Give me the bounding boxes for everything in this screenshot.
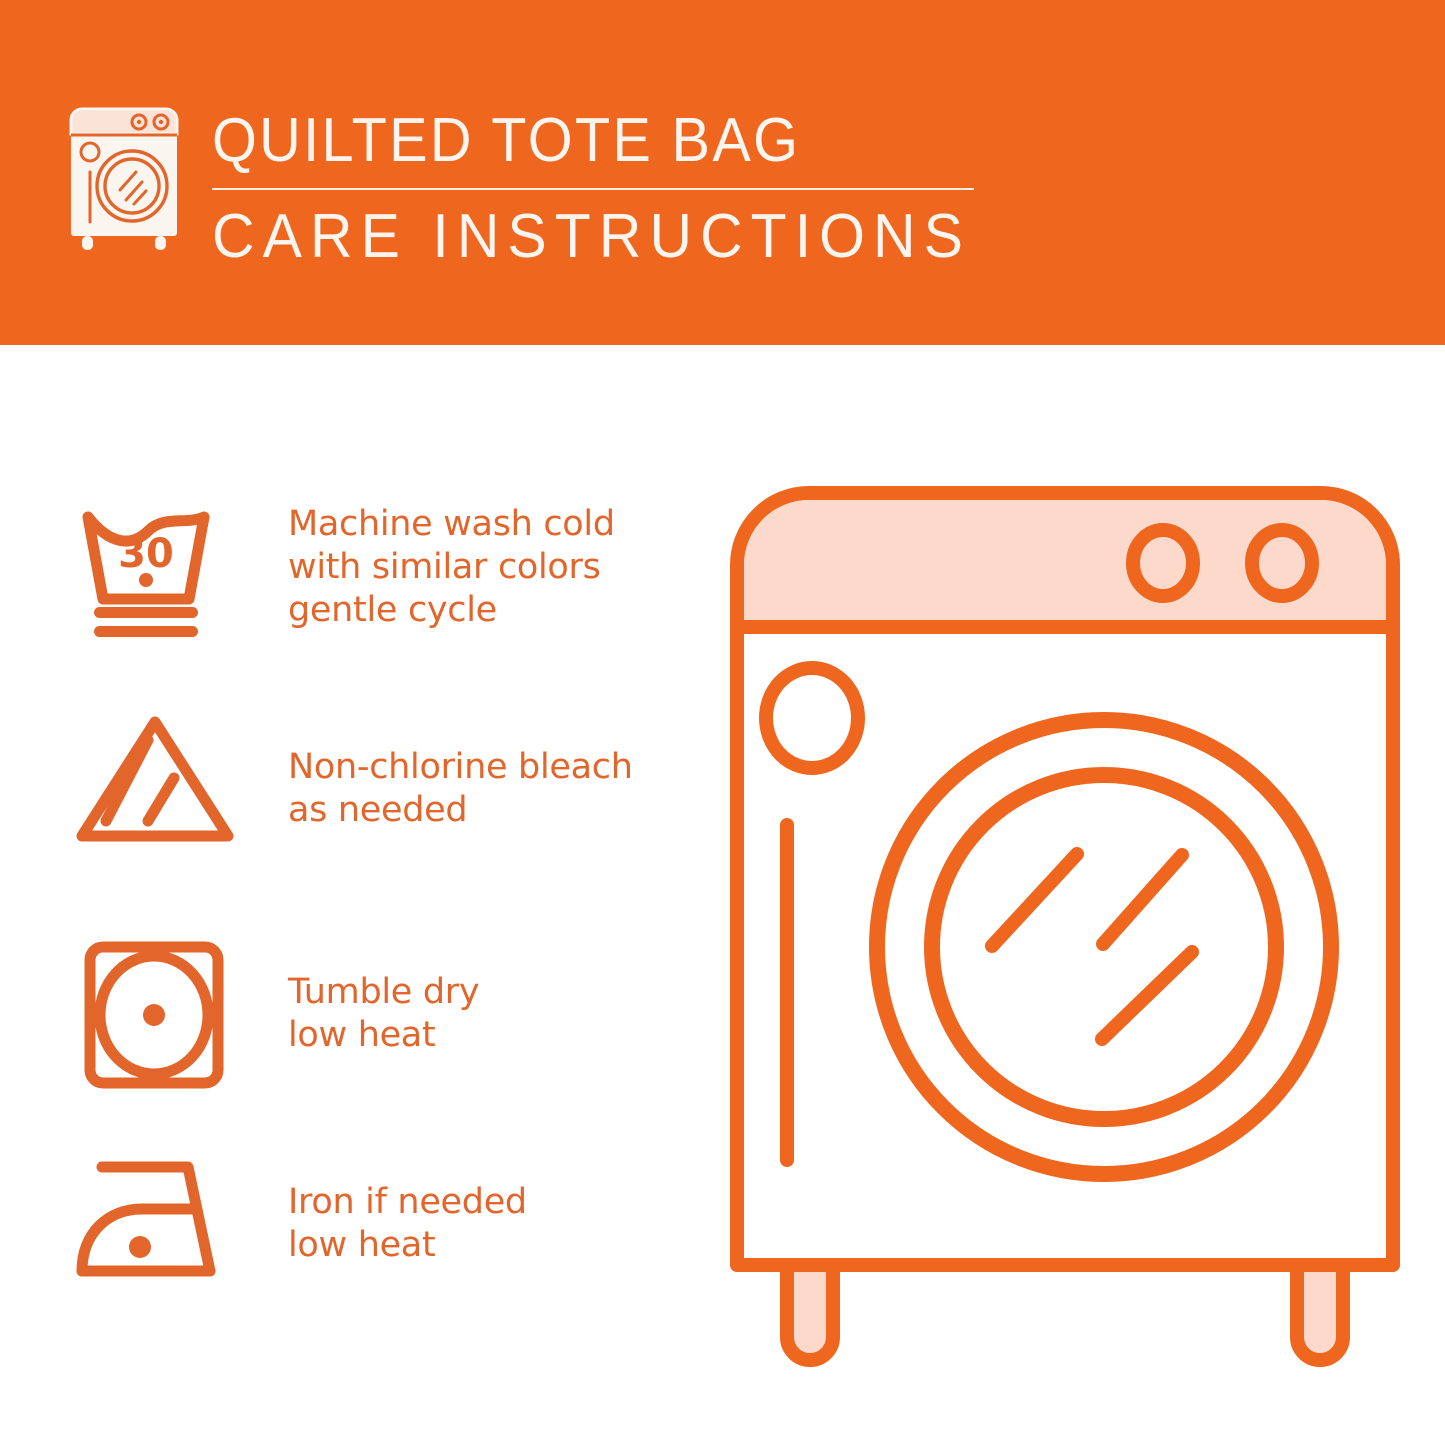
leg-right <box>1297 1265 1343 1360</box>
care-item-label: Iron if needed low heat <box>288 1181 527 1267</box>
care-item-label: Machine wash cold with similar colors ge… <box>288 503 615 632</box>
front-load-washing-machine-illustration <box>715 470 1415 1380</box>
control-panel <box>744 500 1386 627</box>
page-subtitle: CARE INSTRUCTIONS <box>212 201 963 273</box>
non-chlorine-bleach-triangle-icon <box>70 708 240 878</box>
care-item-label: Tumble dry low heat <box>288 971 479 1057</box>
leg-left <box>787 1265 833 1360</box>
iron-low-heat-icon <box>70 1147 240 1317</box>
care-instruction-list: 30 Machine wash cold with similar colors… <box>0 345 700 1445</box>
header-title-block: QUILTED TOTE BAG CARE INSTRUCTIONS <box>212 105 1002 273</box>
wash-tub-30-gentle-icon: 30 <box>70 495 240 665</box>
page-title: QUILTED TOTE BAG <box>212 105 947 177</box>
washing-machine-icon <box>66 104 182 252</box>
svg-text:30: 30 <box>118 531 174 577</box>
care-instructions-infographic: QUILTED TOTE BAG CARE INSTRUCTIONS 30 <box>0 0 1445 1445</box>
tumble-dry-low-icon <box>70 933 240 1103</box>
care-item-label: Non-chlorine bleach as needed <box>288 746 633 832</box>
header-banner: QUILTED TOTE BAG CARE INSTRUCTIONS <box>0 0 1445 345</box>
title-divider <box>212 188 974 190</box>
